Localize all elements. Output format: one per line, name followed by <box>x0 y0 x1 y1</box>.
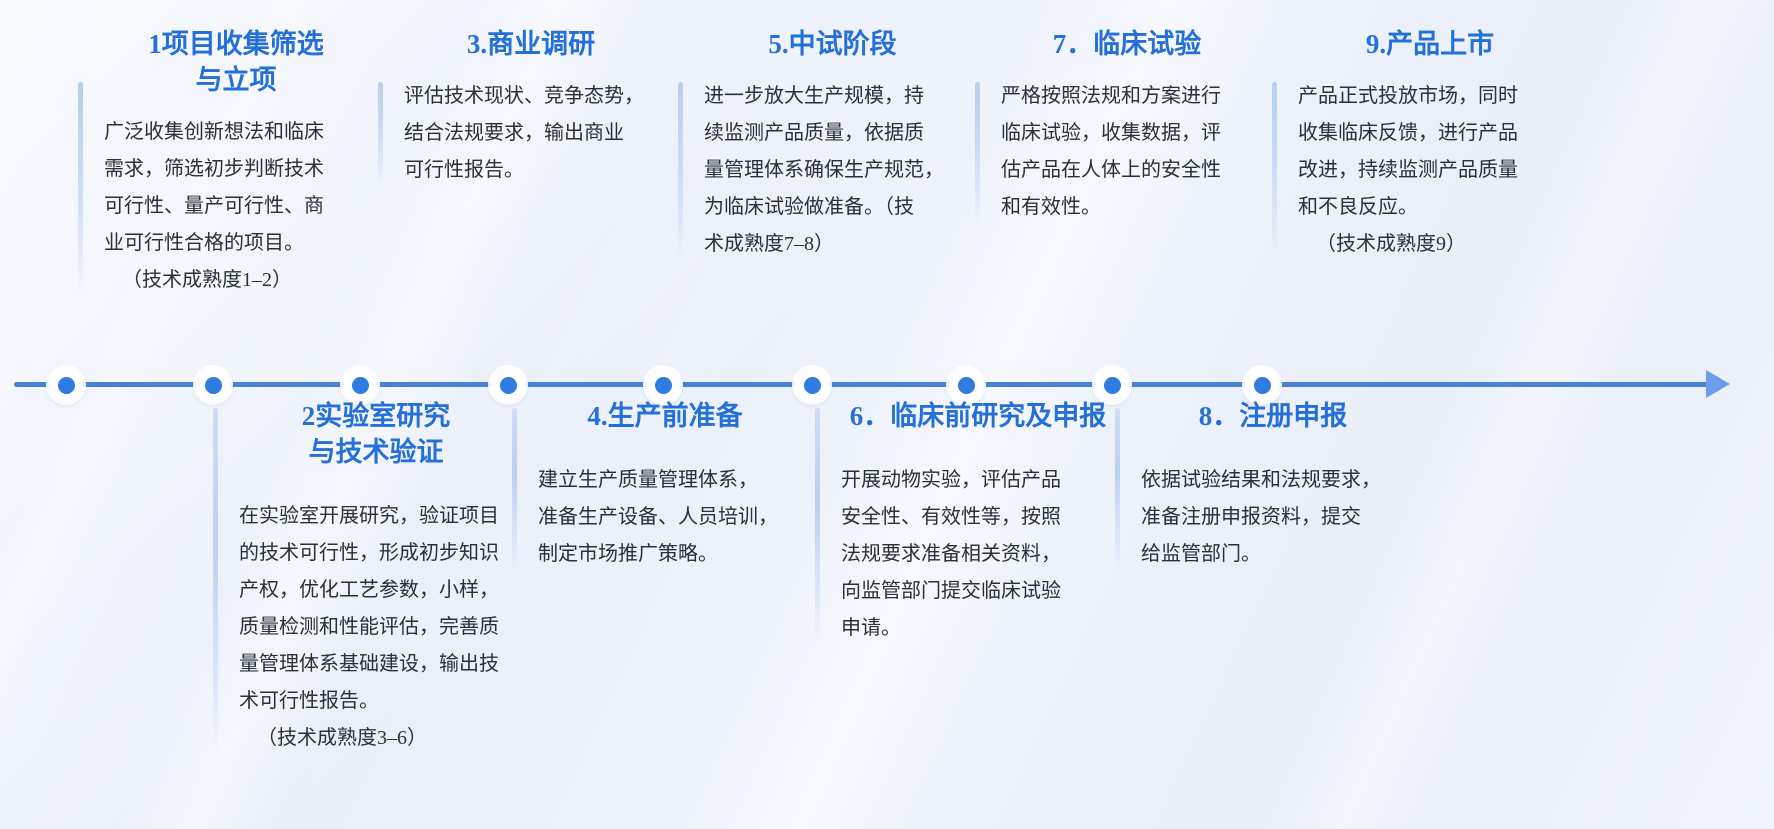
stage-body: 建立生产质量管理体系， 准备生产设备、人员培训， 制定市场推广策略。 <box>538 462 792 573</box>
timeline-node-7[interactable] <box>949 368 983 402</box>
stage-title: 6．临床前研究及申报 <box>841 398 1115 434</box>
timeline-node-1[interactable] <box>49 368 83 402</box>
stage-card-6[interactable]: 6．临床前研究及申报 开展动物实验，评估产品 安全性、有效性等，按照 法规要求准… <box>815 398 1115 647</box>
accent-bar <box>213 408 218 755</box>
timeline-diagram: 1项目收集筛选 与立项 广泛收集创新想法和临床 需求，筛选初步判断技术 可行性、… <box>0 0 1774 829</box>
accent-bar <box>512 408 517 571</box>
accent-bar <box>815 408 820 645</box>
timeline-node-2[interactable] <box>196 368 230 402</box>
timeline-node-8[interactable] <box>1095 368 1129 402</box>
timeline-node-5[interactable] <box>646 368 680 402</box>
stage-note: （技术成熟度3–6） <box>239 720 513 757</box>
stage-body: 在实验室开展研究，验证项目 的技术可行性，形成初步知识 产权，优化工艺参数，小样… <box>239 498 513 720</box>
stage-body: 依据试验结果和法规要求， 准备注册申报资料，提交 给监管部门。 <box>1141 462 1405 573</box>
accent-bar <box>1115 408 1120 571</box>
stage-title: 4.生产前准备 <box>538 398 792 434</box>
stage-card-8[interactable]: 8．注册申报 依据试验结果和法规要求， 准备注册申报资料，提交 给监管部门。 <box>1115 398 1405 573</box>
axis-line <box>14 382 1714 387</box>
stage-title: 8．注册申报 <box>1141 398 1405 434</box>
timeline-node-3[interactable] <box>343 368 377 402</box>
timeline-node-6[interactable] <box>795 368 829 402</box>
axis-arrow-icon <box>1706 370 1730 398</box>
stage-body: 开展动物实验，评估产品 安全性、有效性等，按照 法规要求准备相关资料， 向监管部… <box>841 462 1115 647</box>
stage-card-4[interactable]: 4.生产前准备 建立生产质量管理体系， 准备生产设备、人员培训， 制定市场推广策… <box>512 398 792 573</box>
timeline-node-9[interactable] <box>1245 368 1279 402</box>
timeline-node-4[interactable] <box>491 368 525 402</box>
stage-card-2[interactable]: 2实验室研究 与技术验证 在实验室开展研究，验证项目 的技术可行性，形成初步知识… <box>213 398 513 757</box>
stage-title: 2实验室研究 与技术验证 <box>239 398 513 470</box>
